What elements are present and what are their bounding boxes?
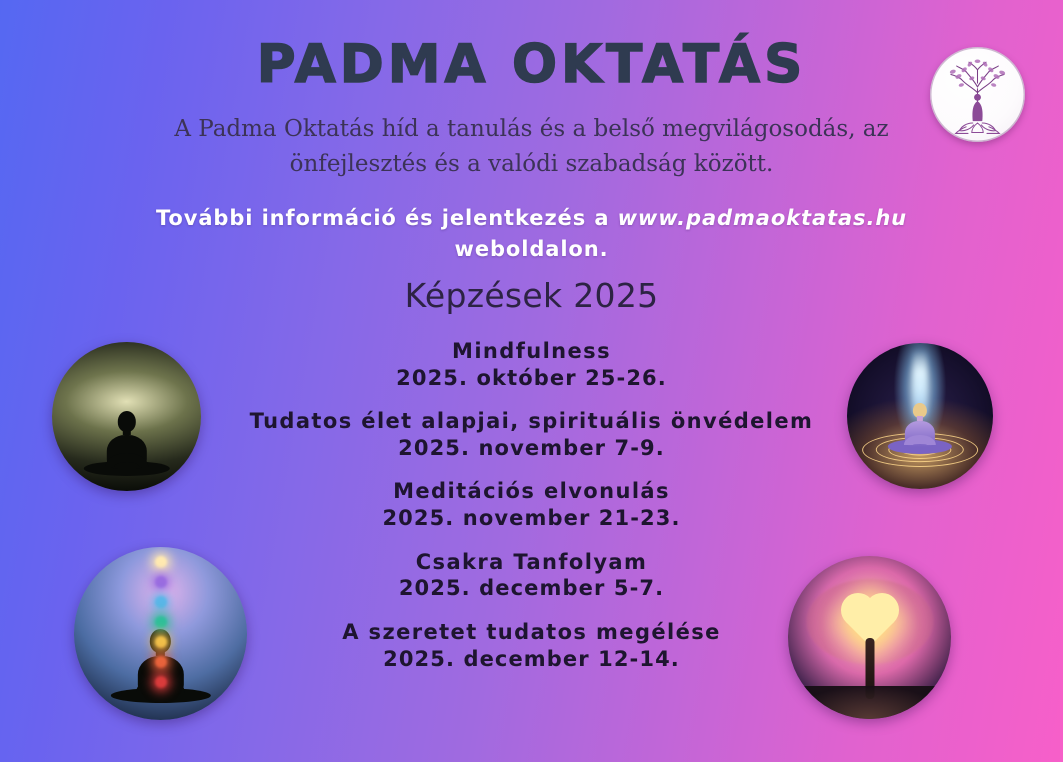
course-date: 2025. november 21-23. [192,505,872,532]
course-date: 2025. december 12-14. [192,646,872,673]
lotus-figure-silhouette [83,411,169,476]
website-info-prefix: További információ és jelentkezés a [156,206,618,230]
course-item: Meditációs elvonulás 2025. november 21-2… [192,478,872,532]
course-name: Csakra Tanfolyam [192,549,872,576]
website-url[interactable]: www.padmaoktatas.hu [618,206,907,230]
image-meditation-dawn [52,342,201,491]
page-title: PADMA OKTATÁS [0,38,1063,91]
website-info: További információ és jelentkezés a www.… [112,203,952,265]
course-date: 2025. október 25-26. [192,365,872,392]
course-name: Tudatos élet alapjai, spirituális önvéde… [192,408,872,435]
course-item: Csakra Tanfolyam 2025. december 5-7. [192,549,872,603]
course-item: Tudatos élet alapjai, spirituális önvéde… [192,408,872,462]
section-heading-trainings: Képzések 2025 [0,279,1063,312]
course-item: Mindfulness 2025. október 25-26. [192,338,872,392]
image-chakra-figure [74,547,247,720]
poster-subtitle: A Padma Oktatás híd a tanulás és a belső… [152,112,912,182]
chakra-points [156,548,166,696]
course-name: Meditációs elvonulás [192,478,872,505]
course-date: 2025. november 7-9. [192,435,872,462]
tree-of-life-lotus-icon [930,47,1025,142]
ground-mound [788,686,951,719]
course-name: A szeretet tudatos megélése [192,619,872,646]
course-list: Mindfulness 2025. október 25-26. Tudatos… [192,338,872,673]
image-heart-tree [788,556,951,719]
course-item: A szeretet tudatos megélése 2025. decemb… [192,619,872,673]
subtitle-line-1: A Padma Oktatás híd a tanulás és a belső… [152,112,912,147]
website-info-suffix: weboldalon. [455,237,609,261]
brand-logo [930,47,1025,142]
course-date: 2025. december 5-7. [192,575,872,602]
lotus-figure-silhouette [888,403,952,454]
poster: PADMA OKTATÁS A Padma Oktatás híd a tanu… [0,0,1063,762]
subtitle-line-2: önfejlesztés és a valódi szabadság közöt… [152,147,912,182]
image-cosmic-light [847,343,993,489]
course-name: Mindfulness [192,338,872,365]
